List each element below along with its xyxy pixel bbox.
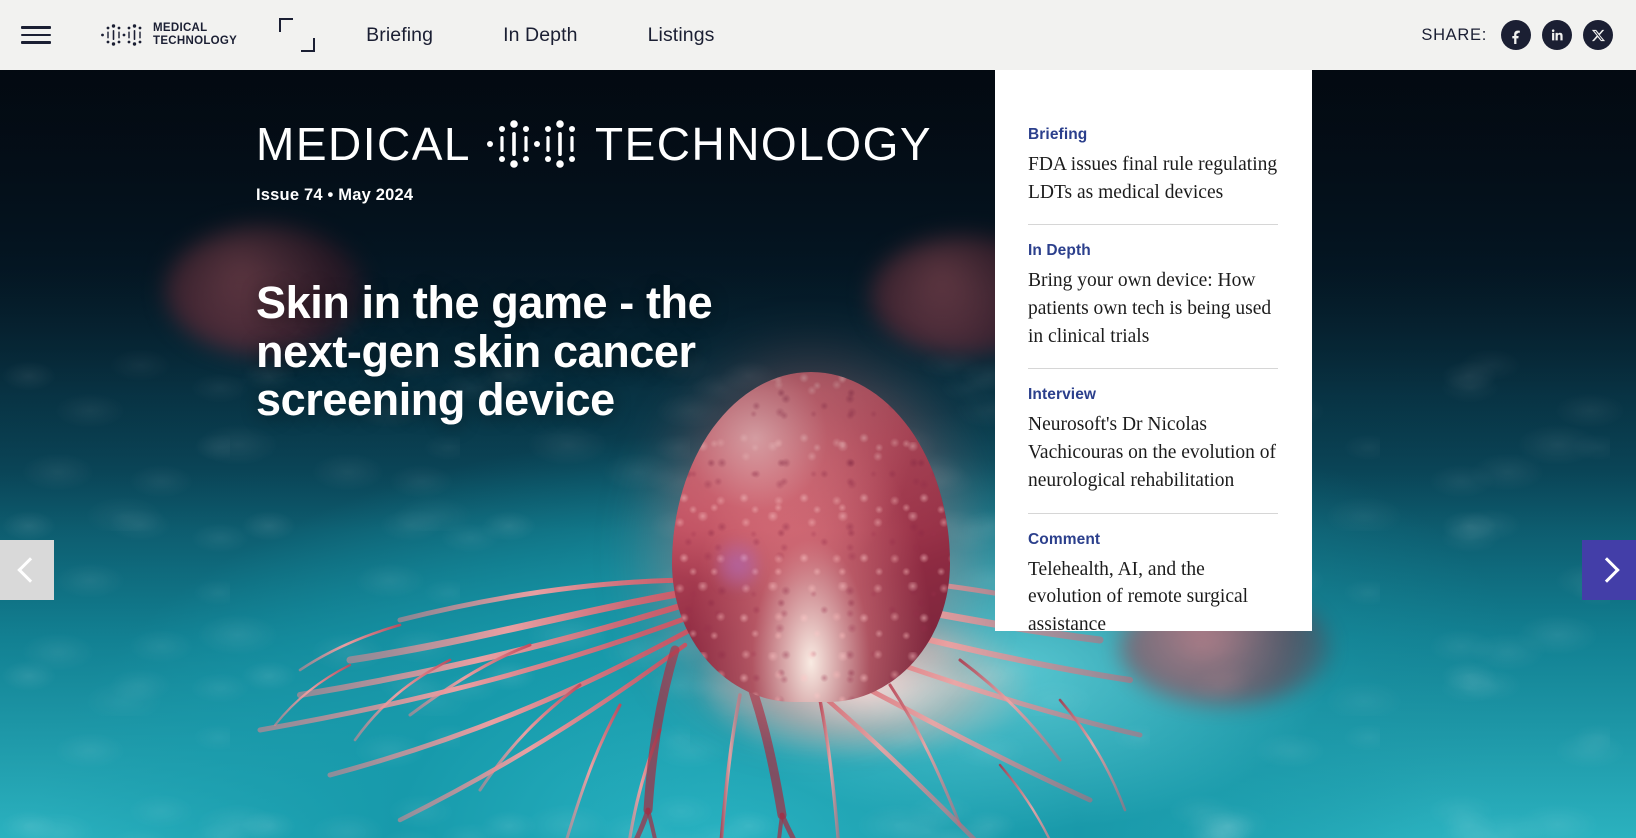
main-navigation: Briefing In Depth Listings xyxy=(366,24,749,47)
masthead: MEDICAL TECHNOLOGY xyxy=(256,118,976,170)
hamburger-bar xyxy=(21,34,51,37)
article-title: Bring your own device: How patients own … xyxy=(1028,267,1278,350)
article-list-item[interactable]: Briefing FDA issues final rule regulatin… xyxy=(1028,126,1278,206)
divider xyxy=(1028,513,1278,514)
share-group: SHARE: xyxy=(1421,20,1613,50)
hamburger-menu-icon[interactable] xyxy=(21,23,53,47)
article-kicker: Comment xyxy=(1028,531,1278,549)
hero-text-block: MEDICAL TECHNOLOGY Issue 74 • May 2 xyxy=(256,118,976,425)
article-list-item[interactable]: In Depth Bring your own device: How pati… xyxy=(1028,242,1278,350)
dot-matrix-icon xyxy=(485,118,581,170)
divider xyxy=(1028,368,1278,369)
x-twitter-icon[interactable] xyxy=(1583,20,1613,50)
article-list-item[interactable]: Interview Neurosoft's Dr Nicolas Vachico… xyxy=(1028,386,1278,494)
chevron-left-icon xyxy=(17,557,42,582)
article-title: FDA issues final rule regulating LDTs as… xyxy=(1028,151,1278,206)
slider-next-button[interactable] xyxy=(1582,540,1636,600)
cell-tendrils xyxy=(100,500,1150,838)
issue-label: Issue 74 • May 2024 xyxy=(256,186,976,205)
hamburger-bar xyxy=(21,26,51,29)
site-logo[interactable]: MEDICAL TECHNOLOGY xyxy=(100,22,237,48)
nav-item-listings[interactable]: Listings xyxy=(613,24,750,47)
hamburger-bar xyxy=(21,41,51,44)
chevron-right-icon xyxy=(1594,557,1619,582)
corner-bracket-bottom-right xyxy=(301,38,315,52)
dot-matrix-icon xyxy=(100,23,144,47)
nav-item-briefing[interactable]: Briefing xyxy=(366,24,468,47)
top-navigation-bar: MEDICAL TECHNOLOGY Briefing In Depth Lis… xyxy=(0,0,1636,70)
logo-line-1: MEDICAL xyxy=(153,22,237,35)
masthead-word-right: TECHNOLOGY xyxy=(595,121,932,167)
article-title: Neurosoft's Dr Nicolas Vachicouras on th… xyxy=(1028,411,1278,494)
logo-line-2: TECHNOLOGY xyxy=(153,35,237,48)
article-kicker: In Depth xyxy=(1028,242,1278,260)
corner-bracket-icon xyxy=(279,18,315,52)
article-kicker: Briefing xyxy=(1028,126,1278,144)
divider xyxy=(1028,224,1278,225)
hero-headline[interactable]: Skin in the game - the next-gen skin can… xyxy=(256,279,726,425)
article-title: Telehealth, AI, and the evolution of rem… xyxy=(1028,556,1278,639)
slider-prev-button[interactable] xyxy=(0,540,54,600)
facebook-icon[interactable] xyxy=(1501,20,1531,50)
article-list-item[interactable]: Comment Telehealth, AI, and the evolutio… xyxy=(1028,531,1278,639)
logo-wordmark: MEDICAL TECHNOLOGY xyxy=(153,22,237,48)
featured-articles-panel: Briefing FDA issues final rule regulatin… xyxy=(995,70,1312,631)
article-kicker: Interview xyxy=(1028,386,1278,404)
masthead-word-left: MEDICAL xyxy=(256,121,471,167)
linkedin-icon[interactable] xyxy=(1542,20,1572,50)
share-label: SHARE: xyxy=(1421,26,1487,45)
nav-item-in-depth[interactable]: In Depth xyxy=(468,24,613,47)
hero-slide: MEDICAL TECHNOLOGY Issue 74 • May 2 xyxy=(0,70,1636,838)
page-root: MEDICAL TECHNOLOGY Briefing In Depth Lis… xyxy=(0,0,1636,838)
corner-bracket-top-left xyxy=(279,18,293,32)
